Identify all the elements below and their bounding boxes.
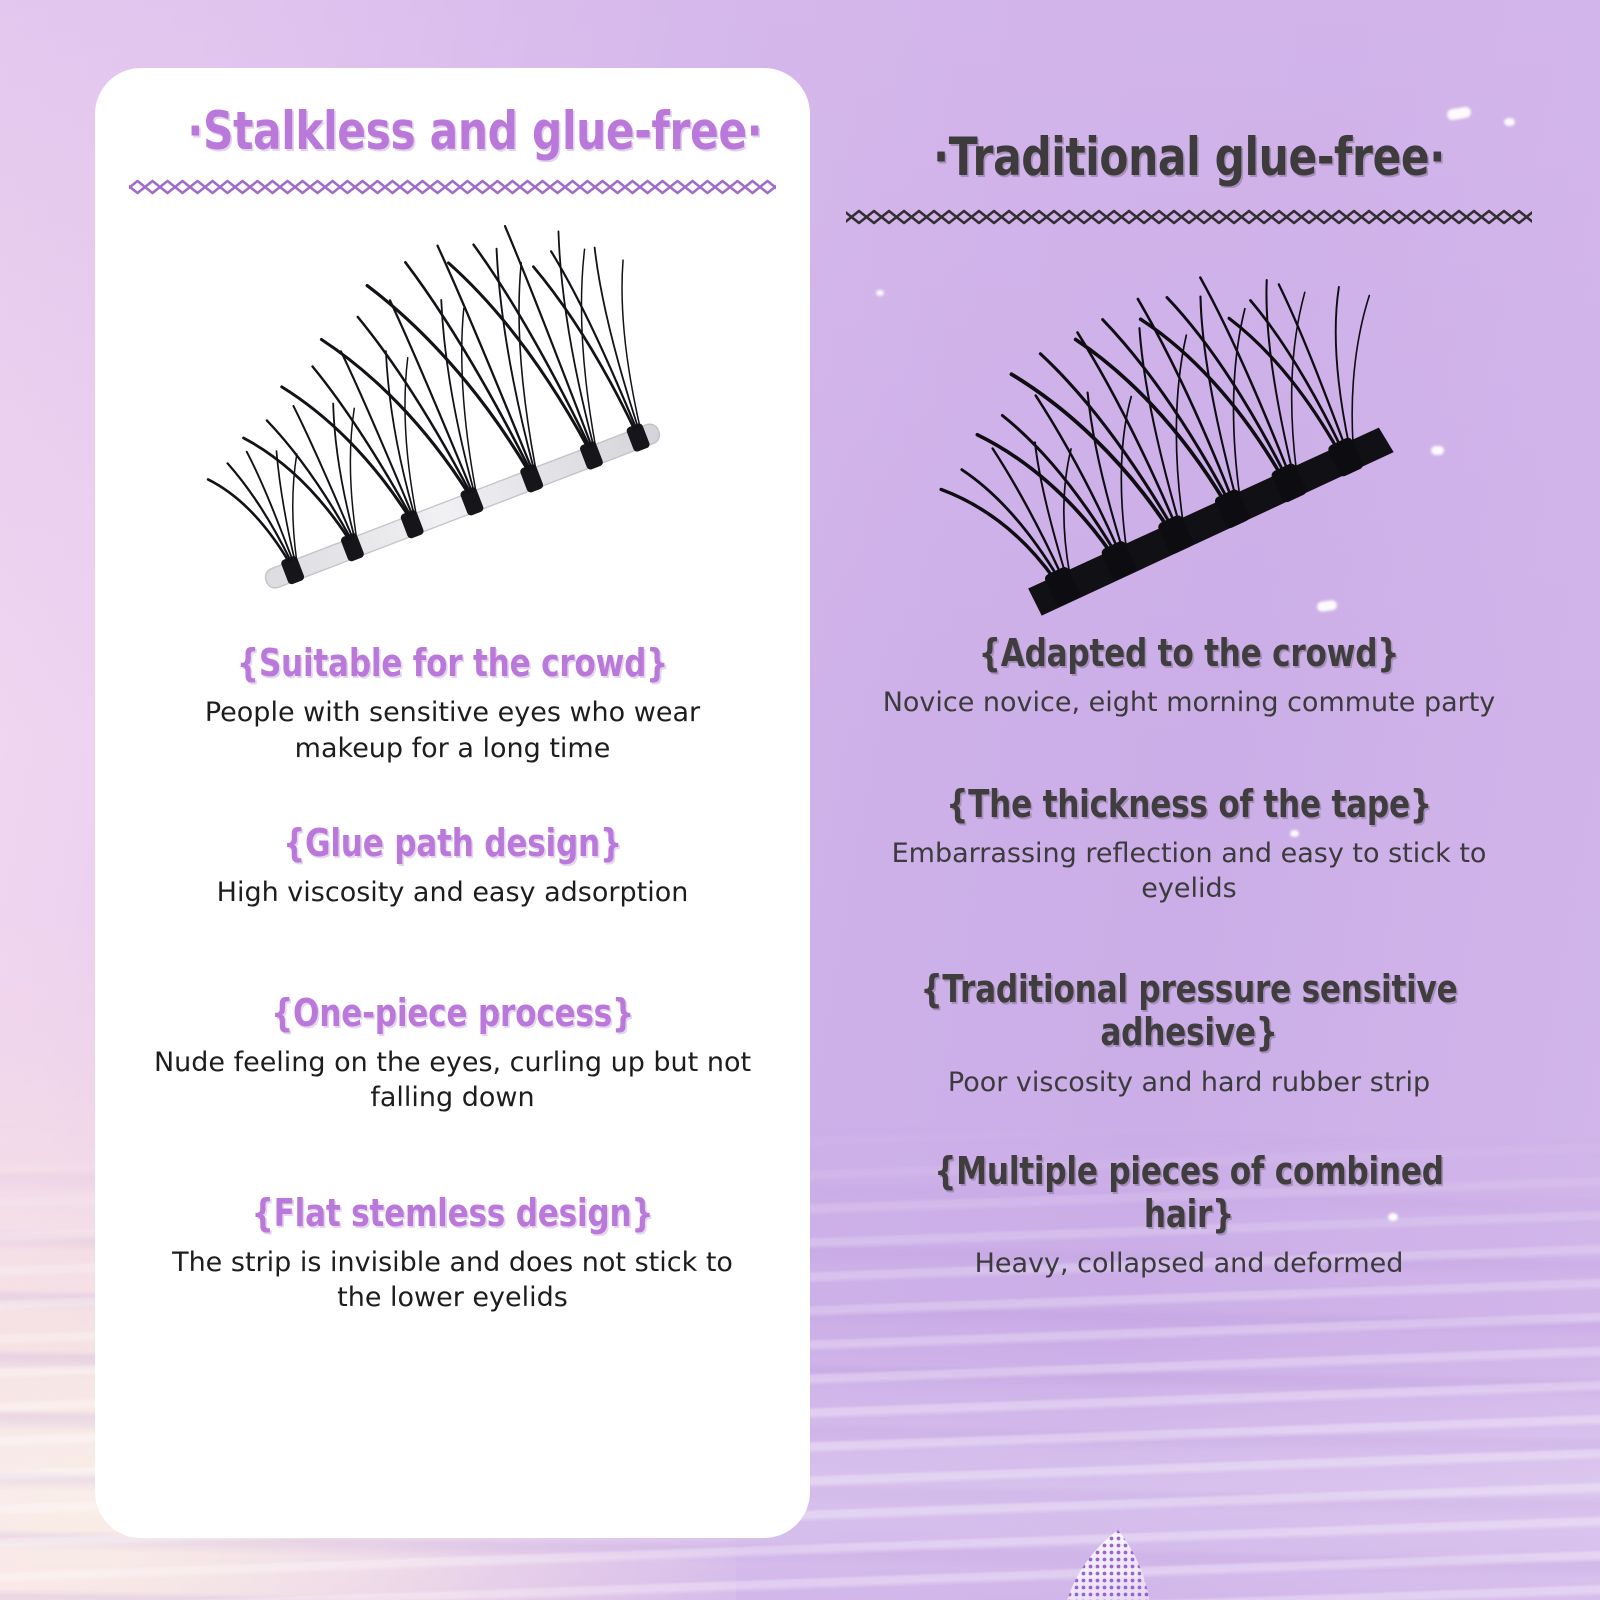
feature-title: {Multiple pieces of combined hair} bbox=[900, 1150, 1479, 1237]
left-feature-list: {Suitable for the crowd} People with sen… bbox=[121, 642, 784, 1315]
feature-title: {Glue path design} bbox=[181, 822, 725, 865]
feature-block: {Flat stemless design} The strip is invi… bbox=[121, 1192, 784, 1316]
feature-description: People with sensitive eyes who wear make… bbox=[121, 695, 784, 765]
feature-title: {Flat stemless design} bbox=[181, 1192, 725, 1235]
right-product-photo bbox=[836, 232, 1542, 622]
feature-title: {One-piece process} bbox=[181, 992, 725, 1035]
right-column: ·Traditional glue-free· bbox=[818, 130, 1560, 1530]
right-feature-list: {Adapted to the crowd} Novice novice, ei… bbox=[836, 632, 1542, 1281]
feature-title: {Adapted to the crowd} bbox=[900, 632, 1479, 675]
feature-block: {Suitable for the crowd} People with sen… bbox=[121, 642, 784, 766]
feature-description: The strip is invisible and does not stic… bbox=[121, 1245, 784, 1315]
feature-description: Novice novice, eight morning commute par… bbox=[836, 685, 1542, 720]
lace-petal-decoration bbox=[1052, 1528, 1182, 1600]
left-column-headline: ·Stalkless and glue-free· bbox=[187, 104, 717, 160]
left-column: ·Stalkless and glue-free· bbox=[95, 68, 810, 1538]
feature-block: {Multiple pieces of combined hair} Heavy… bbox=[836, 1150, 1542, 1282]
feature-block: {Glue path design} High viscosity and ea… bbox=[121, 822, 784, 910]
feature-title: {The thickness of the tape} bbox=[900, 783, 1479, 826]
feature-block: {Adapted to the crowd} Novice novice, ei… bbox=[836, 632, 1542, 720]
feature-title: {Suitable for the crowd} bbox=[181, 642, 725, 685]
stalkless-lash-illustration bbox=[121, 204, 784, 634]
traditional-lash-illustration bbox=[836, 232, 1542, 622]
braid-divider-left bbox=[129, 176, 776, 198]
left-product-photo bbox=[121, 204, 784, 634]
feature-block: {Traditional pressure sensitive adhesive… bbox=[836, 968, 1542, 1100]
braid-divider-right bbox=[846, 206, 1532, 228]
feature-title: {Traditional pressure sensitive adhesive… bbox=[900, 968, 1479, 1055]
feature-description: Embarrassing reflection and easy to stic… bbox=[836, 836, 1542, 906]
feature-block: {One-piece process} Nude feeling on the … bbox=[121, 992, 784, 1116]
feature-description: Nude feeling on the eyes, curling up but… bbox=[121, 1045, 784, 1115]
sparkle-dot bbox=[1504, 118, 1515, 126]
feature-block: {The thickness of the tape} Embarrassing… bbox=[836, 783, 1542, 907]
product-comparison-poster: ·Stalkless and glue-free· bbox=[0, 0, 1600, 1600]
feature-description: Heavy, collapsed and deformed bbox=[836, 1246, 1542, 1281]
feature-description: High viscosity and easy adsorption bbox=[121, 875, 784, 910]
feature-description: Poor viscosity and hard rubber strip bbox=[836, 1065, 1542, 1100]
right-column-headline: ·Traditional glue-free· bbox=[907, 130, 1472, 186]
